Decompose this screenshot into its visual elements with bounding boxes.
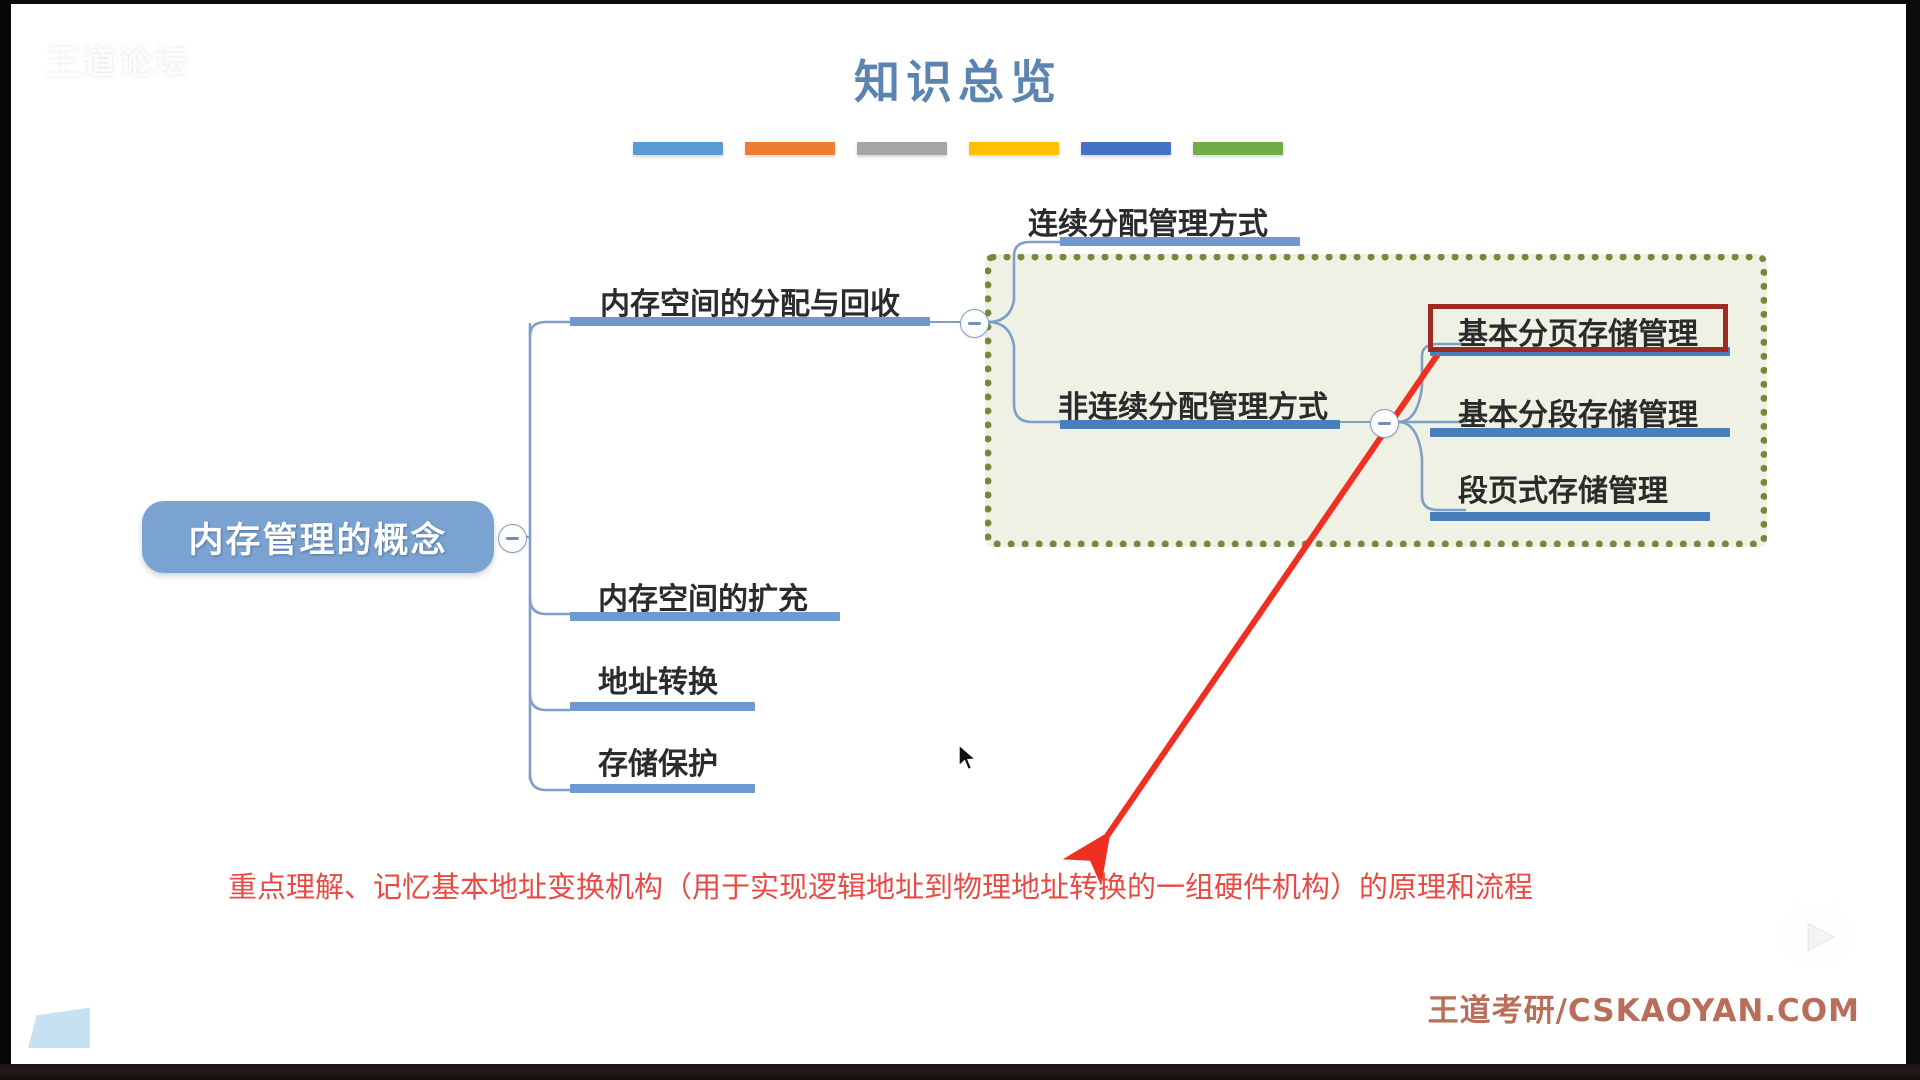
red-annotation-text: 重点理解、记忆基本地址变换机构（用于实现逻辑地址到物理地址转换的一组硬件机构）的… xyxy=(228,866,1768,908)
presentation-slide: 知识总览 xyxy=(10,4,1906,1064)
minus-icon xyxy=(968,322,981,324)
node-label-seg-paging[interactable]: 段页式存储管理 xyxy=(1458,466,1668,510)
collapse-toggle-non-contiguous[interactable] xyxy=(1370,409,1399,438)
node-underline-expand xyxy=(570,612,840,621)
watermark-bottom-right: 王道考研/CSKAOYAN.COM xyxy=(1428,985,1860,1030)
node-label-protect[interactable]: 存储保护 xyxy=(598,739,718,783)
mindmap-root-node[interactable]: 内存管理的概念 xyxy=(142,501,494,573)
node-underline-protect xyxy=(570,784,755,793)
minus-icon xyxy=(1378,422,1391,424)
node-label-addr[interactable]: 地址转换 xyxy=(598,657,718,701)
node-underline-non-contiguous xyxy=(1060,420,1340,429)
highlight-box-paging xyxy=(1428,304,1728,352)
mouse-cursor xyxy=(958,744,980,774)
node-underline-seg-paging xyxy=(1430,512,1710,521)
minus-icon xyxy=(506,537,519,539)
player-right-edge xyxy=(1907,0,1920,1080)
node-underline-segmentation xyxy=(1430,428,1730,437)
player-left-edge xyxy=(0,0,11,1080)
collapse-toggle-alloc[interactable] xyxy=(960,309,989,338)
bilibili-tv-play-icon xyxy=(1776,894,1858,968)
node-underline-alloc xyxy=(570,317,930,326)
video-player-frame: 知识总览 xyxy=(0,0,1920,1080)
root-node-label: 内存管理的概念 xyxy=(188,512,447,563)
node-underline-addr xyxy=(570,702,755,711)
node-underline-contiguous xyxy=(1060,237,1300,246)
player-bottom-band xyxy=(0,1064,1920,1080)
collapse-toggle-root[interactable] xyxy=(498,524,527,553)
